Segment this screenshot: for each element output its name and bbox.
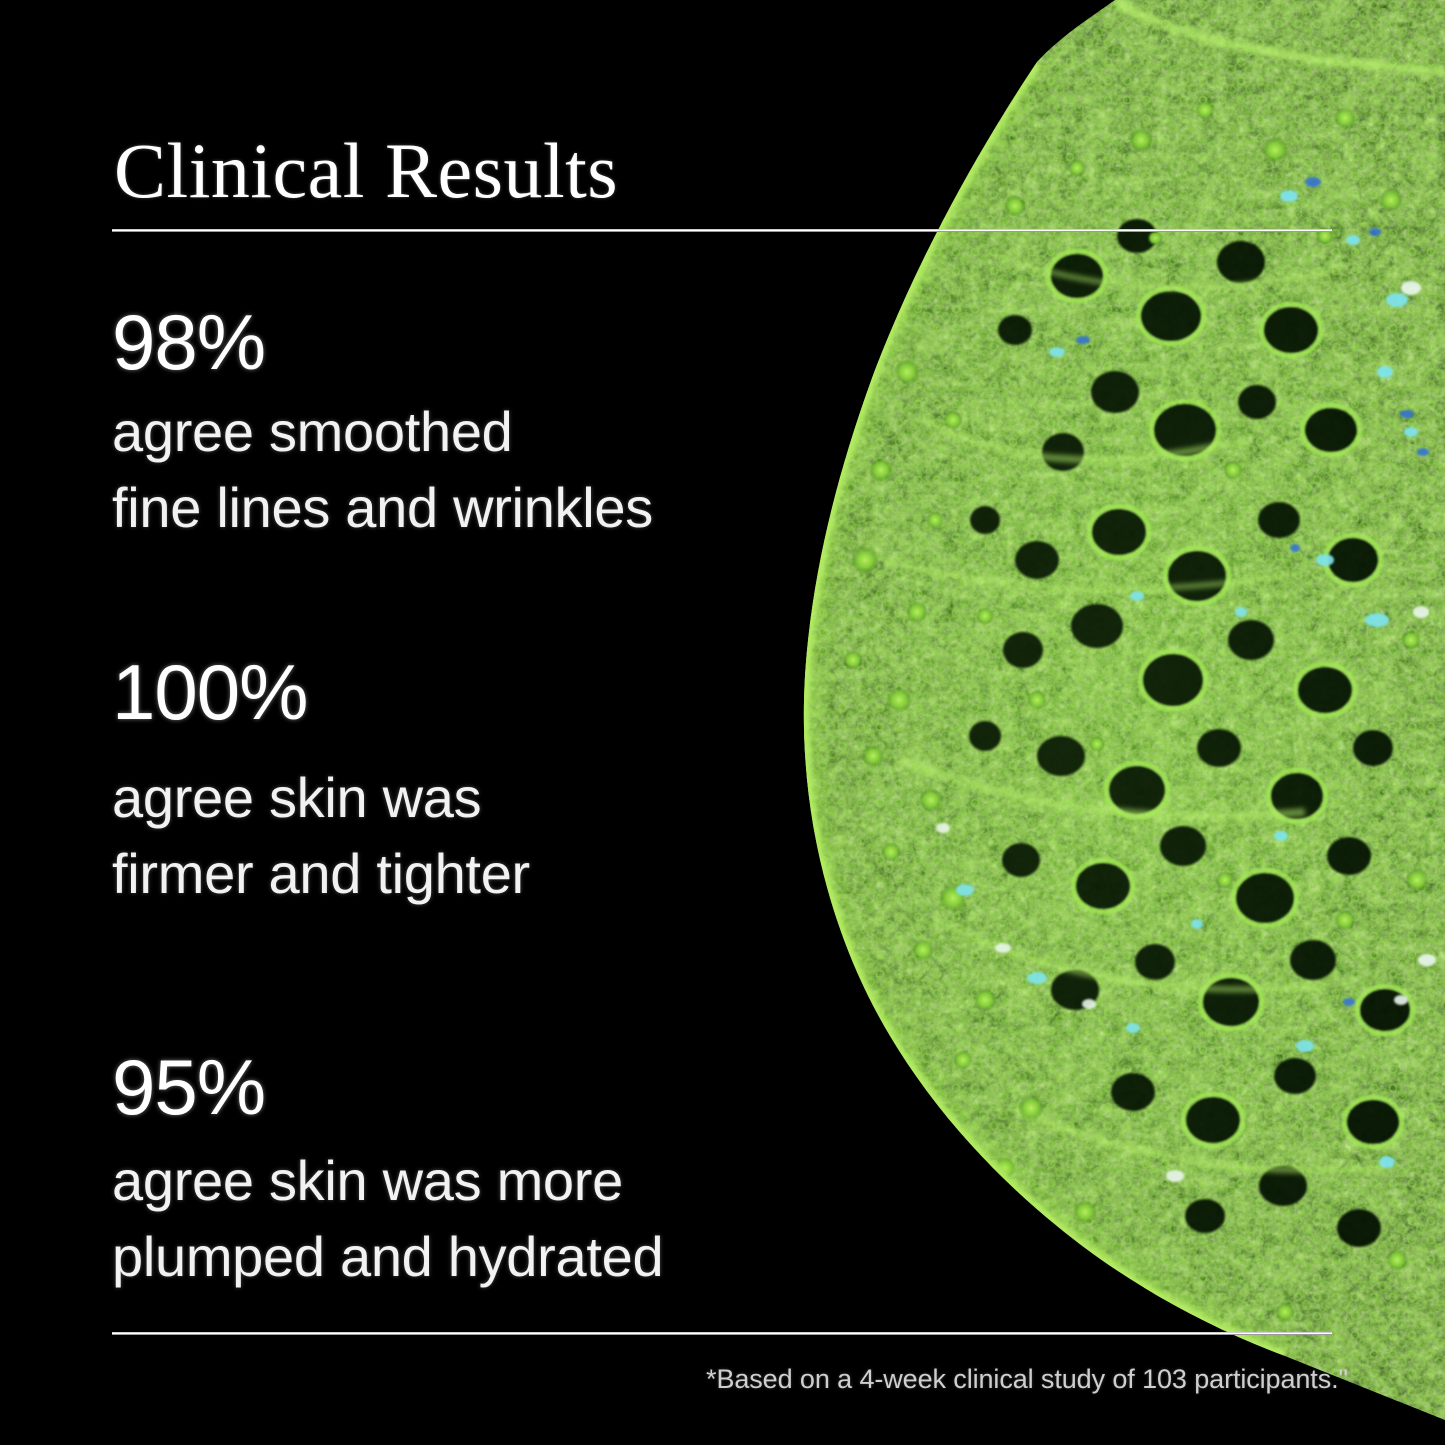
page-title: Clinical Results [114, 124, 618, 218]
stat-block: 95% agree skin was more plumped and hydr… [112, 1045, 663, 1295]
micrograph-svg [685, 0, 1445, 1445]
stat-description-line: firmer and tighter [112, 836, 530, 912]
stat-description: agree skin was firmer and tighter [112, 760, 530, 912]
disclaimer-text: *Based on a 4-week clinical study of 103… [0, 1362, 1348, 1396]
plant-tissue-fluorescence-micrograph [685, 0, 1445, 1445]
stat-block: 100% agree skin was firmer and tighter [112, 650, 530, 912]
stat-description-line: agree smoothed [112, 394, 653, 470]
footer-divider [112, 1332, 1332, 1335]
stat-percentage: 100% [112, 650, 530, 734]
stat-percentage: 98% [112, 300, 653, 384]
clinical-results-card: Clinical Results 98% agree smoothed fine… [0, 0, 1445, 1445]
stat-description-line: agree skin was [112, 760, 530, 836]
stat-percentage: 95% [112, 1045, 663, 1129]
stat-block: 98% agree smoothed fine lines and wrinkl… [112, 300, 653, 546]
stat-description-line: plumped and hydrated [112, 1219, 663, 1295]
tissue-body [685, 0, 1445, 1445]
stat-description-line: fine lines and wrinkles [112, 470, 653, 546]
stat-description-line: agree skin was more [112, 1143, 663, 1219]
stat-description: agree skin was more plumped and hydrated [112, 1143, 663, 1295]
header-divider [112, 229, 1332, 232]
stat-description: agree smoothed fine lines and wrinkles [112, 394, 653, 546]
